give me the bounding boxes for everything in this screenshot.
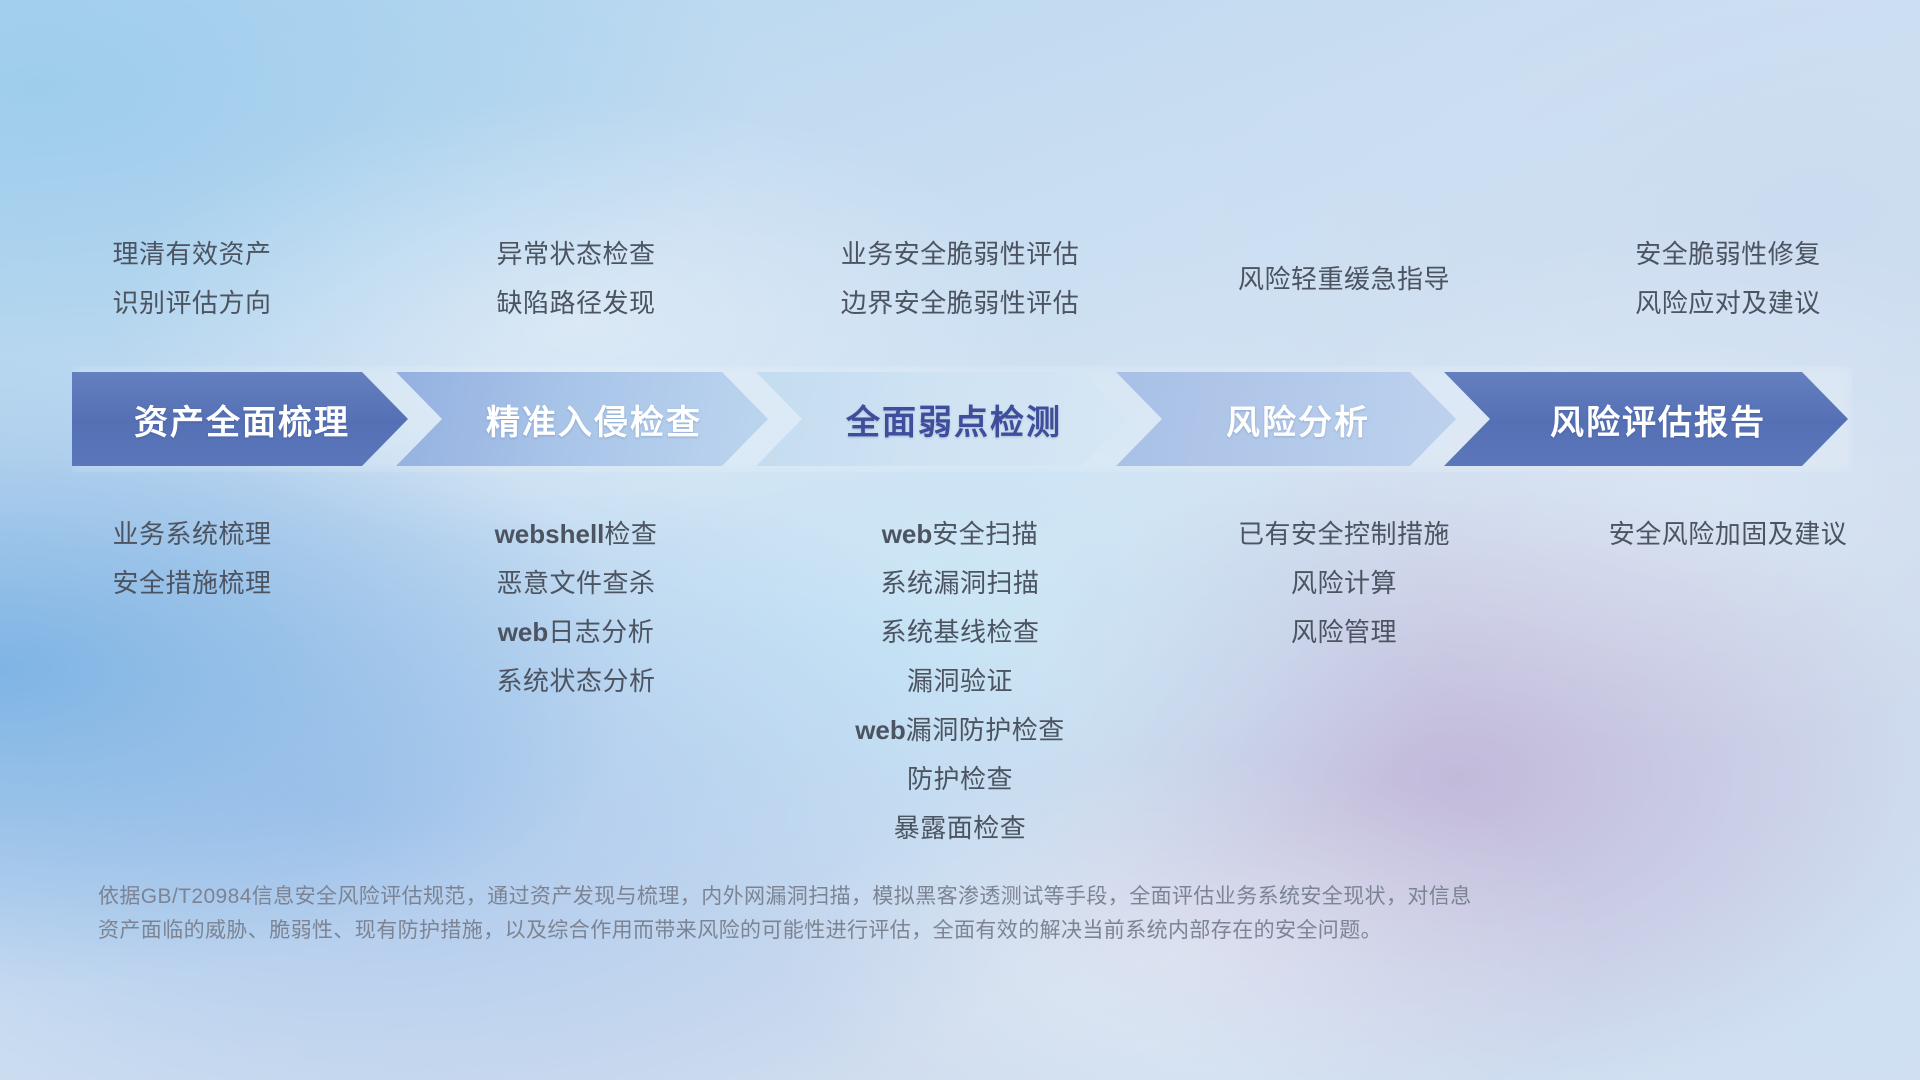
above-labels-row: 理清有效资产 识别评估方向 异常状态检查 缺陷路径发现 业务安全脆弱性评估 边界… <box>0 230 1920 328</box>
below-item: 防护检查 <box>768 755 1152 804</box>
below-item-cjk: 检查 <box>604 519 657 549</box>
below-item: 漏洞验证 <box>768 657 1152 706</box>
above-item: 业务安全脆弱性评估 <box>768 230 1152 279</box>
arrow-band: 资产全面梳理 精准入侵检查 全面弱点检测 风险分析 风险评估报告 <box>0 372 1920 466</box>
stage-arrow-5[interactable]: 风险评估报告 <box>1444 372 1848 466</box>
below-item-cjk: 安全扫描 <box>932 519 1038 549</box>
below-item-cjk: 系统漏洞扫描 <box>880 568 1039 598</box>
above-column-2: 异常状态检查 缺陷路径发现 <box>384 230 768 328</box>
below-item-latin: web <box>498 617 549 647</box>
above-item: 异常状态检查 <box>384 230 768 279</box>
stage-arrow-4[interactable]: 风险分析 <box>1116 372 1456 466</box>
above-item: 边界安全脆弱性评估 <box>768 279 1152 328</box>
below-item-latin: webshell <box>495 519 605 549</box>
above-column-3: 业务安全脆弱性评估 边界安全脆弱性评估 <box>768 230 1152 328</box>
below-item: 安全措施梳理 <box>0 559 384 608</box>
stage-arrow-2[interactable]: 精准入侵检查 <box>396 372 768 466</box>
below-item-latin: web <box>855 715 906 745</box>
below-item: 风险管理 <box>1152 608 1536 657</box>
below-item: web漏洞防护检查 <box>768 706 1152 755</box>
below-labels-row: 业务系统梳理 安全措施梳理 webshell检查 恶意文件查杀 web日志分析 … <box>0 510 1920 853</box>
above-item: 理清有效资产 <box>0 230 384 279</box>
below-item: 恶意文件查杀 <box>384 559 768 608</box>
stage-arrow-2-label: 精准入侵检查 <box>462 395 702 444</box>
above-item: 识别评估方向 <box>0 279 384 328</box>
footnote-line-2: 资产面临的威胁、脆弱性、现有防护措施，以及综合作用而带来风险的可能性进行评估，全… <box>98 914 1658 948</box>
below-column-5: 安全风险加固及建议 <box>1536 510 1920 853</box>
below-item-cjk: 暴露面检查 <box>894 813 1027 843</box>
below-item: 系统基线检查 <box>768 608 1152 657</box>
below-item: web日志分析 <box>384 608 768 657</box>
stage-arrow-5-label: 风险评估报告 <box>1526 395 1766 444</box>
stage-arrow-4-label: 风险分析 <box>1202 395 1370 444</box>
above-item: 缺陷路径发现 <box>384 279 768 328</box>
footnote: 依据GB/T20984信息安全风险评估规范，通过资产发现与梳理，内外网漏洞扫描，… <box>98 880 1658 948</box>
process-diagram: 理清有效资产 识别评估方向 异常状态检查 缺陷路径发现 业务安全脆弱性评估 边界… <box>0 0 1920 1080</box>
below-item: 安全风险加固及建议 <box>1536 510 1920 559</box>
above-item: 风险轻重缓急指导 <box>1152 230 1536 328</box>
above-column-5: 安全脆弱性修复 风险应对及建议 <box>1536 230 1920 328</box>
below-item: webshell检查 <box>384 510 768 559</box>
below-item: 系统状态分析 <box>384 657 768 706</box>
below-column-4: 已有安全控制措施 风险计算 风险管理 <box>1152 510 1536 853</box>
below-item: 系统漏洞扫描 <box>768 559 1152 608</box>
below-item-latin: web <box>882 519 933 549</box>
below-column-3: web安全扫描 系统漏洞扫描 系统基线检查 漏洞验证 web漏洞防护检查 防护检… <box>768 510 1152 853</box>
above-column-1: 理清有效资产 识别评估方向 <box>0 230 384 328</box>
stage-arrow-1-label: 资产全面梳理 <box>130 395 350 444</box>
stage-arrow-3-label: 全面弱点检测 <box>822 395 1062 444</box>
below-column-1: 业务系统梳理 安全措施梳理 <box>0 510 384 853</box>
above-item: 风险应对及建议 <box>1536 279 1920 328</box>
above-column-4: 风险轻重缓急指导 <box>1152 230 1536 328</box>
below-item-cjk: 系统状态分析 <box>496 666 655 696</box>
stage-arrow-1[interactable]: 资产全面梳理 <box>72 372 408 466</box>
stage-arrow-3[interactable]: 全面弱点检测 <box>756 372 1128 466</box>
below-item-cjk: 防护检查 <box>907 764 1013 794</box>
below-item-cjk: 日志分析 <box>548 617 654 647</box>
below-item: web安全扫描 <box>768 510 1152 559</box>
below-item-cjk: 漏洞验证 <box>907 666 1013 696</box>
above-item: 安全脆弱性修复 <box>1536 230 1920 279</box>
below-item: 风险计算 <box>1152 559 1536 608</box>
footnote-line-1: 依据GB/T20984信息安全风险评估规范，通过资产发现与梳理，内外网漏洞扫描，… <box>98 880 1658 914</box>
below-item-cjk: 漏洞防护检查 <box>906 715 1065 745</box>
below-item: 业务系统梳理 <box>0 510 384 559</box>
below-column-2: webshell检查 恶意文件查杀 web日志分析 系统状态分析 <box>384 510 768 853</box>
below-item-cjk: 恶意文件查杀 <box>496 568 655 598</box>
below-item: 已有安全控制措施 <box>1152 510 1536 559</box>
below-item: 暴露面检查 <box>768 804 1152 853</box>
below-item-cjk: 系统基线检查 <box>880 617 1039 647</box>
